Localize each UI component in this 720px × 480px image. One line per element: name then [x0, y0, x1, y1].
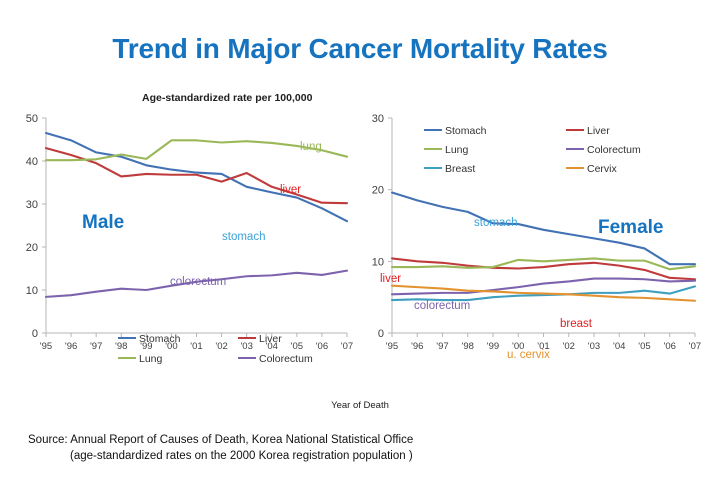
x-tick-label: '07: [341, 341, 353, 352]
y-tick-label: 30: [372, 113, 384, 125]
chart-panel-male: 01020304050'95'96'97'98'99'00'01'02'03'0…: [10, 110, 355, 395]
x-tick-label: '98: [115, 341, 127, 352]
x-tick-label: '02: [215, 341, 227, 352]
chart-subtitle: Age-standardized rate per 100,000: [142, 92, 312, 104]
annotation-male: Male: [82, 212, 124, 233]
x-tick-label: '97: [436, 341, 448, 352]
y-tick-label: 0: [32, 328, 38, 340]
y-tick-label: 10: [26, 285, 38, 297]
legend-label-stomach: Stomach: [139, 333, 181, 345]
y-tick-label: 50: [26, 113, 38, 125]
annotation-breast: breast: [560, 318, 593, 330]
x-tick-label: '99: [487, 341, 499, 352]
x-tick-label: '95: [40, 341, 52, 352]
x-tick-label: '05: [291, 341, 303, 352]
source-line-2: (age-standardized rates on the 2000 Kore…: [28, 448, 413, 464]
annotation-colorectum: colorectum: [414, 300, 470, 312]
legend-label-colorectum: Colorectum: [259, 353, 313, 365]
x-tick-label: '04: [613, 341, 625, 352]
annotation-cervix: u. cervix: [507, 349, 550, 361]
annotation-colorectum: colorectum: [170, 276, 226, 288]
legend-label-colorectum: Colorectum: [587, 144, 641, 156]
legend-label-lung: Lung: [445, 144, 469, 156]
legend-label-stomach: Stomach: [445, 125, 487, 137]
annotation-female: Female: [598, 217, 663, 238]
legend-label-liver: Liver: [587, 125, 610, 137]
x-tick-label: '05: [638, 341, 650, 352]
x-tick-label: '96: [65, 341, 77, 352]
x-tick-label: '02: [563, 341, 575, 352]
page-title: Trend in Major Cancer Mortality Rates: [0, 33, 720, 65]
annotation-stomach: stomach: [222, 231, 265, 243]
x-tick-label: '01: [190, 341, 202, 352]
x-tick-label: '03: [588, 341, 600, 352]
x-tick-label: '96: [411, 341, 423, 352]
annotation-liver: liver: [280, 184, 301, 196]
legend-label-cervix: Cervix: [587, 163, 618, 175]
male-mortality-line-chart: 01020304050'95'96'97'98'99'00'01'02'03'0…: [10, 110, 355, 395]
y-tick-label: 30: [26, 199, 38, 211]
y-tick-label: 20: [372, 185, 384, 197]
x-tick-label: '06: [664, 341, 676, 352]
y-tick-label: 10: [372, 256, 384, 268]
slide-canvas: Trend in Major Cancer Mortality Rates Ag…: [0, 0, 720, 480]
annotation-liver: liver: [380, 273, 401, 285]
x-tick-label: '06: [316, 341, 328, 352]
source-line-1: Source: Annual Report of Causes of Death…: [28, 434, 413, 446]
x-tick-label: '03: [240, 341, 252, 352]
x-tick-label: '95: [386, 341, 398, 352]
y-tick-label: 20: [26, 242, 38, 254]
legend-label-liver: Liver: [259, 333, 282, 345]
x-axis-caption: Year of Death: [0, 400, 720, 411]
legend-label-lung: Lung: [139, 353, 163, 365]
x-tick-label: '97: [90, 341, 102, 352]
y-tick-label: 40: [26, 156, 38, 168]
x-tick-label: '07: [689, 341, 701, 352]
chart-panel-female: 0102030'95'96'97'98'99'00'01'02'03'04'05…: [362, 110, 707, 395]
annotation-lung: lung: [300, 141, 322, 153]
x-tick-label: '98: [462, 341, 474, 352]
source-note: Source: Annual Report of Causes of Death…: [28, 432, 413, 464]
female-mortality-line-chart: 0102030'95'96'97'98'99'00'01'02'03'04'05…: [362, 110, 707, 395]
legend-label-breast: Breast: [445, 163, 475, 175]
series-line-liver: [46, 148, 347, 203]
y-tick-label: 0: [378, 328, 384, 340]
annotation-stomach: stomach: [474, 217, 517, 229]
